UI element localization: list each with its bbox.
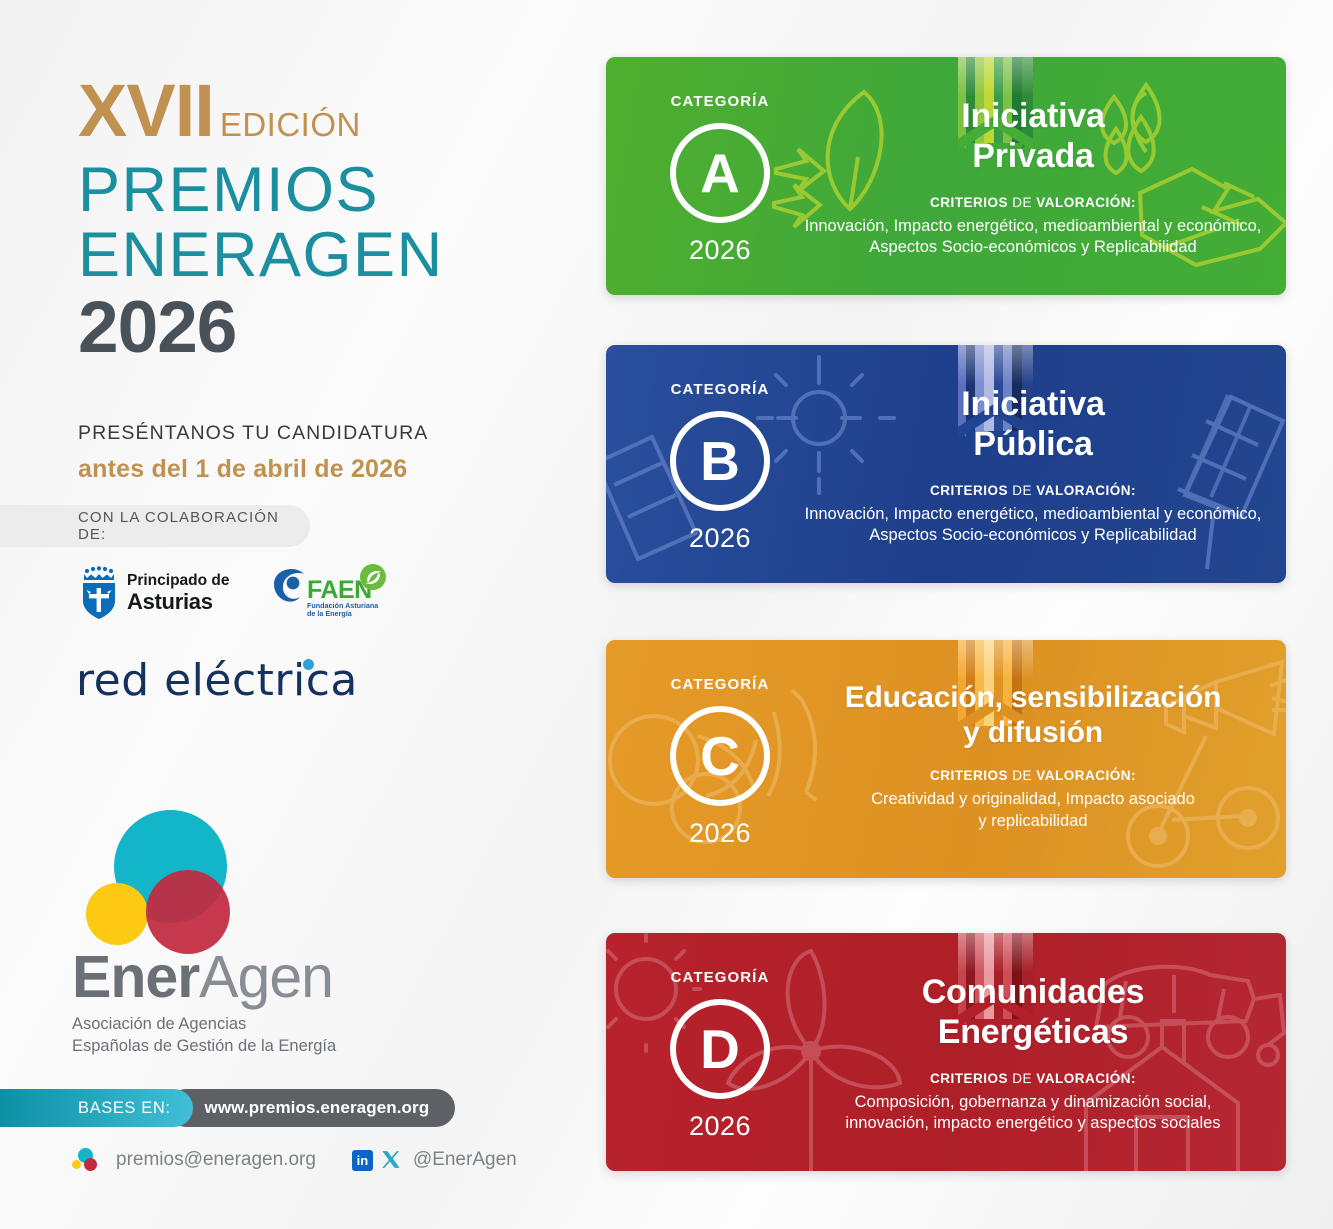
card-c-title-line-2: y difusión <box>798 715 1268 750</box>
card-a-letter-badge: A <box>670 123 770 223</box>
card-a-criteria-line-2: Aspectos Socio-económicos y Replicabilid… <box>798 237 1268 258</box>
card-b-badge-area: CATEGORÍA B 2026 <box>646 381 794 554</box>
card-c-content: Educación, sensibilización y difusión CR… <box>798 680 1268 832</box>
card-d-criteria-head-2: VALORACIÓN: <box>1036 1071 1136 1086</box>
card-b-title-line-2: Pública <box>798 425 1268 465</box>
category-cards: CATEGORÍA A 2026 Iniciativa Privada CRIT… <box>606 0 1333 1229</box>
card-b-title-line-1: Iniciativa <box>798 385 1268 425</box>
contact-row: premios@eneragen.org in @EnerAgen <box>72 1147 517 1173</box>
eneragen-tagline: Asociación de Agencias Españolas de Gest… <box>72 1014 402 1058</box>
eneragen-word-bold: Ener <box>72 944 199 1010</box>
title-year: 2026 <box>78 291 444 364</box>
faen-logo: FAEN Fundación Asturiana de la Energía <box>270 562 388 624</box>
title-eneragen: ENERAGEN <box>78 224 444 287</box>
card-c-year: 2026 <box>646 818 794 849</box>
card-d-criteria-line-2: innovación, impacto energético y aspecto… <box>798 1113 1268 1134</box>
card-c-letter-badge: C <box>670 706 770 806</box>
collaboration-pill: CON LA COLABORACIÓN DE: <box>0 505 310 547</box>
cta-line-1: PRESÉNTANOS TU CANDIDATURA <box>78 422 428 445</box>
card-a-content: Iniciativa Privada CRITERIOS DE VALORACI… <box>798 97 1268 258</box>
asturias-line-1: Principado de <box>127 573 230 589</box>
collaboration-label: CON LA COLABORACIÓN DE: <box>78 509 310 543</box>
social-links: in @EnerAgen <box>352 1149 517 1172</box>
partner-logos-row: Principado de Asturias FAEN Fundación As… <box>78 562 388 624</box>
category-card-d[interactable]: CATEGORÍA D 2026 Comunidades Energéticas… <box>606 933 1286 1171</box>
card-a-criteria-head-1: CRITERIOS <box>930 195 1008 210</box>
principado-asturias-logo: Principado de Asturias <box>78 566 230 620</box>
bases-label: BASES EN: <box>0 1089 193 1127</box>
eneragen-tagline-2: Españolas de Gestión de la Energía <box>72 1036 402 1058</box>
card-d-badge-area: CATEGORÍA D 2026 <box>646 969 794 1142</box>
bases-url-link[interactable]: www.premios.eneragen.org <box>167 1089 456 1127</box>
faen-swirl-icon <box>274 569 304 602</box>
bubble-red <box>146 870 230 954</box>
category-card-a[interactable]: CATEGORÍA A 2026 Iniciativa Privada CRIT… <box>606 57 1286 295</box>
x-twitter-icon[interactable] <box>380 1149 403 1172</box>
card-c-criteria-head-2: VALORACIÓN: <box>1036 768 1136 783</box>
eneragen-tagline-1: Asociación de Agencias <box>72 1014 402 1036</box>
card-b-title: Iniciativa Pública <box>798 385 1268 465</box>
card-c-badge-area: CATEGORÍA C 2026 <box>646 676 794 849</box>
card-c-criteria-head-1: CRITERIOS <box>930 768 1008 783</box>
cta-deadline: antes del 1 de abril de 2026 <box>78 455 407 484</box>
title-premios: PREMIOS <box>78 159 444 222</box>
red-electrica-logo: red eléctrica <box>76 655 358 706</box>
red-electrica-wordmark: red eléctrica <box>76 655 358 706</box>
mini-bubble-red <box>84 1158 97 1171</box>
card-b-criteria-head-2: VALORACIÓN: <box>1036 483 1136 498</box>
card-a-title: Iniciativa Privada <box>798 97 1268 177</box>
card-d-content: Comunidades Energéticas CRITERIOS DE VAL… <box>798 973 1268 1134</box>
contact-email-link[interactable]: premios@eneragen.org <box>116 1149 316 1171</box>
card-a-criteria-heading: CRITERIOS DE VALORACIÓN: <box>798 195 1268 210</box>
card-a-criteria-body: Innovación, Impacto energético, medioamb… <box>798 216 1268 259</box>
card-c-category-label: CATEGORÍA <box>646 676 794 693</box>
card-c-criteria-line-2: y replicabilidad <box>798 811 1268 832</box>
card-d-title-line-2: Energéticas <box>798 1013 1268 1053</box>
faen-mark-icon: FAEN Fundación Asturiana de la Energía <box>270 562 388 624</box>
card-d-title: Comunidades Energéticas <box>798 973 1268 1053</box>
card-a-criteria-head-mid: DE <box>1008 195 1036 210</box>
card-a-category-label: CATEGORÍA <box>646 93 794 110</box>
social-handle[interactable]: @EnerAgen <box>413 1149 517 1171</box>
edition-number: XVII <box>78 78 214 145</box>
linkedin-icon[interactable]: in <box>352 1150 373 1171</box>
card-a-badge-area: CATEGORÍA A 2026 <box>646 93 794 266</box>
eneragen-bubbles-icon <box>72 800 302 950</box>
card-b-criteria-body: Innovación, Impacto energético, medioamb… <box>798 504 1268 547</box>
card-c-title-line-1: Educación, sensibilización <box>798 680 1268 715</box>
category-card-b[interactable]: CATEGORÍA B 2026 Iniciativa Pública CRIT… <box>606 345 1286 583</box>
card-d-criteria-line-1: Composición, gobernanza y dinamización s… <box>798 1092 1268 1113</box>
card-d-year: 2026 <box>646 1111 794 1142</box>
card-c-title: Educación, sensibilización y difusión <box>798 680 1268 750</box>
card-d-criteria-head-mid: DE <box>1008 1071 1036 1086</box>
left-info-panel: XVII EDICIÓN PREMIOS ENERAGEN 2026 PRESÉ… <box>0 0 600 1229</box>
card-b-criteria-line-1: Innovación, Impacto energético, medioamb… <box>798 504 1268 525</box>
category-card-c[interactable]: CATEGORÍA C 2026 Educación, sensibilizac… <box>606 640 1286 878</box>
card-a-criteria-head-2: VALORACIÓN: <box>1036 195 1136 210</box>
svg-text:de la Energía: de la Energía <box>307 609 353 618</box>
card-d-category-label: CATEGORÍA <box>646 969 794 986</box>
bubble-yellow <box>86 883 148 945</box>
card-c-criteria-head-mid: DE <box>1008 768 1036 783</box>
mini-bubble-yellow <box>72 1160 81 1169</box>
card-d-criteria-head-1: CRITERIOS <box>930 1071 1008 1086</box>
card-c-criteria-heading: CRITERIOS DE VALORACIÓN: <box>798 768 1268 783</box>
card-b-criteria-line-2: Aspectos Socio-económicos y Replicabilid… <box>798 525 1268 546</box>
red-electrica-dot-icon <box>303 659 314 670</box>
asturias-line-2: Asturias <box>127 590 230 613</box>
card-b-content: Iniciativa Pública CRITERIOS DE VALORACI… <box>798 385 1268 546</box>
card-b-criteria-head-1: CRITERIOS <box>930 483 1008 498</box>
eneragen-word-light: Agen <box>199 944 333 1010</box>
faen-leaf-icon <box>360 564 386 590</box>
asturias-wordmark: Principado de Asturias <box>127 573 230 612</box>
card-a-title-line-1: Iniciativa <box>798 97 1268 137</box>
title-block: XVII EDICIÓN PREMIOS ENERAGEN 2026 <box>78 78 444 364</box>
card-c-criteria-line-1: Creatividad y originalidad, Impacto asoc… <box>798 789 1268 810</box>
card-a-criteria-line-1: Innovación, Impacto energético, medioamb… <box>798 216 1268 237</box>
bases-bar: BASES EN: www.premios.eneragen.org <box>0 1089 455 1127</box>
card-a-title-line-2: Privada <box>798 137 1268 177</box>
card-d-title-line-1: Comunidades <box>798 973 1268 1013</box>
edition-word: EDICIÓN <box>220 106 361 144</box>
card-d-criteria-heading: CRITERIOS DE VALORACIÓN: <box>798 1071 1268 1086</box>
eneragen-logo: EnerAgen Asociación de Agencias Española… <box>72 800 402 1058</box>
asturias-shield-icon <box>78 566 118 620</box>
edition-line: XVII EDICIÓN <box>78 78 444 145</box>
card-c-criteria-body: Creatividad y originalidad, Impacto asoc… <box>798 789 1268 832</box>
eneragen-mini-bubbles-icon <box>72 1147 102 1173</box>
card-b-criteria-heading: CRITERIOS DE VALORACIÓN: <box>798 483 1268 498</box>
card-b-category-label: CATEGORÍA <box>646 381 794 398</box>
card-b-year: 2026 <box>646 523 794 554</box>
card-d-criteria-body: Composición, gobernanza y dinamización s… <box>798 1092 1268 1135</box>
eneragen-wordmark: EnerAgen <box>72 948 402 1007</box>
card-a-year: 2026 <box>646 235 794 266</box>
card-d-letter-badge: D <box>670 999 770 1099</box>
card-b-criteria-head-mid: DE <box>1008 483 1036 498</box>
card-b-letter-badge: B <box>670 411 770 511</box>
